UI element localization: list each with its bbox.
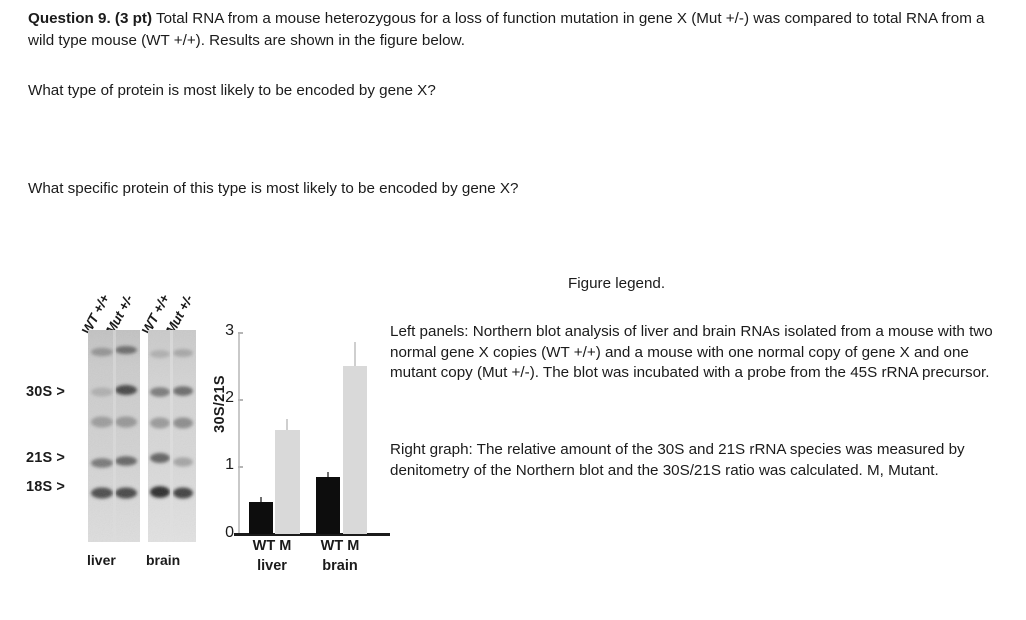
errorbar-brain-wt xyxy=(327,472,329,477)
question-body: Total RNA from a mouse heterozygous for … xyxy=(28,10,985,49)
question-paragraph: Question 9. (3 pt) Total RNA from a mous… xyxy=(28,8,990,52)
bar-liver-wt xyxy=(249,502,273,534)
question-prompt-1: What type of protein is most likely to b… xyxy=(28,80,436,102)
blot-panel-brain xyxy=(148,330,196,542)
figure-legend-title: Figure legend. xyxy=(568,275,665,292)
question-prompt-2: What specific protein of this type is mo… xyxy=(28,178,518,200)
blot-marker-21s-label: 21S xyxy=(26,450,52,466)
blot-caption-liver: liver xyxy=(87,552,116,568)
blot-panel-liver xyxy=(88,330,140,542)
blot-image-liver xyxy=(88,330,140,542)
chart-xtick-brain-pair: WT M xyxy=(300,538,380,554)
chart-plot-area xyxy=(238,332,386,534)
errorbar-liver-wt xyxy=(260,497,262,502)
blot-marker-18s-arrow-icon: > xyxy=(56,479,65,495)
blot-marker-21s-arrow-icon: > xyxy=(56,450,65,466)
chart-ytick-1: 1 xyxy=(212,456,234,474)
figure-legend-left-panels: Left panels: Northern blot analysis of l… xyxy=(390,322,995,384)
blot-marker-18s: 18S> xyxy=(26,479,65,495)
blot-image-brain xyxy=(148,330,196,542)
chart-ytick-3: 3 xyxy=(212,322,234,340)
bar-liver-mut xyxy=(275,430,300,534)
bar-brain-mut xyxy=(343,366,367,534)
chart-ytick-2: 2 xyxy=(212,389,234,407)
blot-marker-30s: 30S> xyxy=(26,384,65,400)
figure-legend-right-graph: Right graph: The relative amount of the … xyxy=(390,440,995,481)
bar-brain-wt xyxy=(316,477,340,534)
blot-marker-18s-label: 18S xyxy=(26,479,52,495)
blot-caption-brain: brain xyxy=(146,552,180,568)
blot-marker-30s-arrow-icon: > xyxy=(56,384,65,400)
question-label: Question 9. (3 pt) xyxy=(28,10,152,27)
blot-marker-21s: 21S> xyxy=(26,450,65,466)
blot-marker-30s-label: 30S xyxy=(26,384,52,400)
errorbar-liver-mut xyxy=(286,419,288,430)
errorbar-brain-mut xyxy=(354,342,356,366)
chart-group-label-brain: brain xyxy=(300,558,380,574)
chart-ytick-0: 0 xyxy=(212,524,234,542)
